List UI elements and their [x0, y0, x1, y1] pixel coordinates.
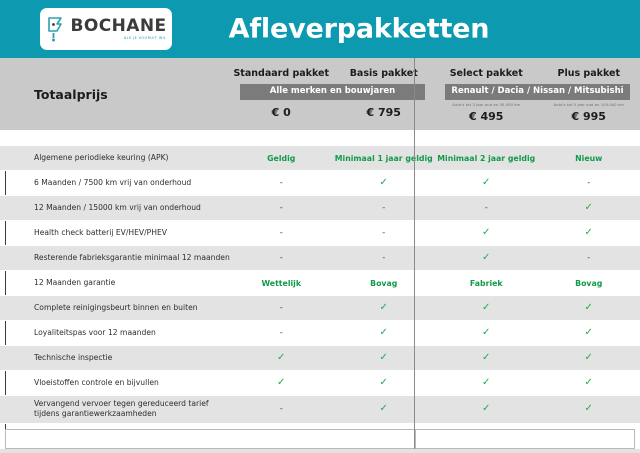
row-value-dash: -	[280, 179, 283, 188]
row-value-cell: -	[230, 246, 333, 270]
table-row: 12 Maanden garantieWettelijkBovagFabriek…	[0, 271, 640, 296]
row-label: Loyaliteitspas voor 12 maanden	[0, 321, 230, 345]
footer-frame	[5, 429, 635, 449]
row-value-dash: -	[587, 179, 590, 188]
row-value-tick: ✓	[380, 328, 388, 338]
row-value-cell: ✓	[333, 171, 436, 195]
row-value-cell: ✓	[435, 371, 538, 395]
table-row: Health check batterij EV/HEV/PHEV--✓✓	[0, 221, 640, 246]
row-value-tick: ✓	[585, 228, 593, 238]
row-value-cell: Geldig	[230, 146, 333, 170]
row-label: 6 Maanden / 7500 km vrij van onderhoud	[0, 171, 230, 195]
row-value-cell: -	[333, 221, 436, 245]
row-value-cell: -	[333, 246, 436, 270]
table-row: Vervangend vervoer tegen gereduceerd tar…	[0, 396, 640, 424]
table-row: Loyaliteitspas voor 12 maanden-✓✓✓	[0, 321, 640, 346]
row-value-word: Bovag	[575, 279, 602, 288]
row-value-cell: -	[230, 449, 333, 453]
row-value-cell: ✓	[435, 321, 538, 345]
row-value-cell: ✓	[538, 371, 640, 395]
row-value-tick: ✓	[585, 203, 593, 213]
row-left-accent	[5, 371, 6, 395]
table-row: Technische inspectie✓✓✓✓	[0, 346, 640, 371]
row-label: Algemene periodieke keuring (APK)	[0, 146, 230, 170]
row-value-word: Fabriek	[470, 279, 503, 288]
package-title-standaard: Standaard pakket	[230, 68, 333, 79]
row-value-cell: -	[538, 171, 640, 195]
row-value-cell: Minimaal 2 jaar geldig	[435, 146, 538, 170]
package-title-select: Select pakket	[435, 68, 538, 79]
row-label: 12 Maanden / 15000 km vrij van onderhoud	[0, 196, 230, 220]
row-value-tick: ✓	[585, 378, 593, 388]
row-value-dash: -	[382, 229, 385, 238]
row-value-tick: ✓	[380, 303, 388, 313]
row-value-dash: -	[280, 229, 283, 238]
left-group-titles: Standaard pakket Basis pakket	[230, 58, 435, 79]
totaalprijs-label: Totaalprijs	[34, 87, 108, 102]
row-value-word: Nieuw	[575, 154, 602, 163]
row-label: Complete reinigingsbeurt binnen en buite…	[0, 296, 230, 320]
group-divider	[414, 58, 415, 449]
row-value-tick: ✓	[482, 228, 490, 238]
row-value-cell: Bovag	[333, 271, 436, 295]
row-value-dash: -	[587, 254, 590, 263]
row-value-cell: Nieuw	[538, 146, 640, 170]
row-value-cell: ✓	[333, 346, 436, 370]
row-value-word: Wettelijk	[261, 279, 301, 288]
row-value-tick: ✓	[482, 303, 490, 313]
row-value-tick: ✓	[482, 178, 490, 188]
row-value-cell: -	[230, 321, 333, 345]
footer-frame-divider	[415, 430, 416, 448]
table-row: Complete reinigingsbeurt binnen en buite…	[0, 296, 640, 321]
row-value-cell: -	[333, 196, 436, 220]
infographic-page: BOCHANE ALS JE VOORUIT WIL Afleverpakket…	[0, 0, 640, 453]
left-package-group: Standaard pakket Basis pakket Alle merke…	[230, 58, 435, 130]
package-title-basis: Basis pakket	[333, 68, 436, 79]
row-value-cell: -	[435, 196, 538, 220]
row-label: Vloeistoffen controle en bijvullen	[0, 371, 230, 395]
row-label: Resterende fabrieksgarantie minimaal 12 …	[0, 246, 230, 270]
row-value-cell: ✓	[230, 371, 333, 395]
row-value-tick: ✓	[585, 328, 593, 338]
row-value-cell: ✓	[538, 396, 640, 423]
row-value-cell: ✓	[538, 196, 640, 220]
table-row: 6 Maanden / 7500 km vrij van onderhoud-✓…	[0, 171, 640, 196]
row-value-cell: ✓	[435, 296, 538, 320]
row-value-cell: Wettelijk	[230, 271, 333, 295]
row-left-accent	[5, 271, 6, 295]
header-gap	[0, 130, 640, 146]
table-header-row: Totaalprijs Standaard pakket Basis pakke…	[0, 58, 640, 130]
row-value-cell: ✓	[538, 221, 640, 245]
row-value-word: Geldig	[267, 154, 295, 163]
row-value-tick: ✓	[482, 378, 490, 388]
row-value-cell: -	[230, 171, 333, 195]
totaalprijs-label-cell: Totaalprijs	[0, 58, 230, 130]
row-value-cell: ✓	[538, 296, 640, 320]
row-value-cell: ✓	[333, 396, 436, 423]
left-group-prices: € 0 € 795	[230, 106, 435, 119]
row-value-tick: ✓	[277, 353, 285, 363]
table-body: Algemene periodieke keuring (APK)GeldigM…	[0, 146, 640, 453]
row-value-cell: -	[230, 396, 333, 423]
row-label: Technische inspectie	[0, 346, 230, 370]
row-value-tick: ✓	[380, 404, 388, 414]
row-value-cell: ✓	[435, 246, 538, 270]
page-title: Afleverpakketten	[0, 14, 640, 45]
row-value-cell: -	[538, 246, 640, 270]
row-value-tick: ✓	[482, 353, 490, 363]
row-value-tick: ✓	[380, 353, 388, 363]
table-row: € 25,- Brandstof of volle accu-✓✓✓	[0, 449, 640, 453]
row-value-dash: -	[382, 204, 385, 213]
row-value-tick: ✓	[482, 253, 490, 263]
package-subnote-select: Auto's tot 3 jaar oud en 30.000 km	[435, 103, 538, 107]
row-value-cell: ✓	[435, 449, 538, 453]
row-value-dash: -	[280, 304, 283, 313]
row-value-cell: ✓	[333, 321, 436, 345]
row-value-cell: ✓	[538, 346, 640, 370]
package-title-plus: Plus pakket	[538, 68, 640, 79]
row-label: € 25,- Brandstof of volle accu	[0, 449, 230, 453]
table-row: Algemene periodieke keuring (APK)GeldigM…	[0, 146, 640, 171]
row-value-tick: ✓	[585, 303, 593, 313]
row-value-cell: ✓	[333, 296, 436, 320]
row-value-dash: -	[280, 329, 283, 338]
right-group-titles: Select pakket Plus pakket	[435, 58, 640, 79]
row-label: Health check batterij EV/HEV/PHEV	[0, 221, 230, 245]
page-header: BOCHANE ALS JE VOORUIT WIL Afleverpakket…	[0, 0, 640, 58]
row-value-cell: Fabriek	[435, 271, 538, 295]
price-standaard: € 0	[230, 106, 333, 119]
package-subnote-plus: Auto's tot 5 jaar oud en 100.000 km	[538, 103, 640, 107]
row-value-cell: ✓	[538, 321, 640, 345]
table-row: 12 Maanden / 15000 km vrij van onderhoud…	[0, 196, 640, 221]
row-value-cell: ✓	[333, 449, 436, 453]
row-value-dash: -	[280, 405, 283, 414]
row-value-cell: ✓	[538, 449, 640, 453]
row-left-accent	[5, 171, 6, 195]
row-value-cell: -	[230, 221, 333, 245]
right-group-subnotes: Auto's tot 3 jaar oud en 30.000 km Auto'…	[435, 103, 640, 107]
table-row: Resterende fabrieksgarantie minimaal 12 …	[0, 246, 640, 271]
price-select: € 495	[435, 110, 538, 123]
row-value-word: Minimaal 2 jaar geldig	[437, 154, 535, 163]
row-value-tick: ✓	[585, 353, 593, 363]
row-value-cell: ✓	[435, 171, 538, 195]
row-value-cell: -	[230, 196, 333, 220]
comparison-table: Totaalprijs Standaard pakket Basis pakke…	[0, 58, 640, 453]
row-label: 12 Maanden garantie	[0, 271, 230, 295]
row-value-tick: ✓	[482, 404, 490, 414]
row-value-cell: ✓	[333, 371, 436, 395]
row-value-tick: ✓	[380, 178, 388, 188]
row-value-tick: ✓	[380, 378, 388, 388]
right-package-group: Select pakket Plus pakket Renault / Daci…	[435, 58, 640, 130]
row-value-cell: Minimaal 1 jaar geldig	[333, 146, 436, 170]
row-value-cell: ✓	[435, 396, 538, 423]
row-value-word: Bovag	[370, 279, 397, 288]
row-value-dash: -	[382, 254, 385, 263]
row-label: Vervangend vervoer tegen gereduceerd tar…	[0, 396, 230, 423]
row-value-cell: ✓	[230, 346, 333, 370]
row-value-word: Minimaal 1 jaar geldig	[335, 154, 433, 163]
row-value-tick: ✓	[277, 378, 285, 388]
row-value-tick: ✓	[482, 328, 490, 338]
price-plus: € 995	[538, 110, 640, 123]
right-group-brand-bar: Renault / Dacia / Nissan / Mitsubishi	[445, 84, 630, 100]
row-left-accent	[5, 221, 6, 245]
row-value-dash: -	[280, 204, 283, 213]
row-value-dash: -	[280, 254, 283, 263]
price-basis: € 795	[333, 106, 436, 119]
row-value-cell: Bovag	[538, 271, 640, 295]
row-value-dash: -	[485, 204, 488, 213]
right-group-prices: € 495 € 995	[435, 110, 640, 123]
row-value-cell: -	[230, 296, 333, 320]
row-value-tick: ✓	[585, 404, 593, 414]
row-left-accent	[5, 321, 6, 345]
table-row: Vloeistoffen controle en bijvullen✓✓✓✓	[0, 371, 640, 396]
row-value-cell: ✓	[435, 346, 538, 370]
row-value-cell: ✓	[435, 221, 538, 245]
left-group-brand-bar: Alle merken en bouwjaren	[240, 84, 425, 100]
